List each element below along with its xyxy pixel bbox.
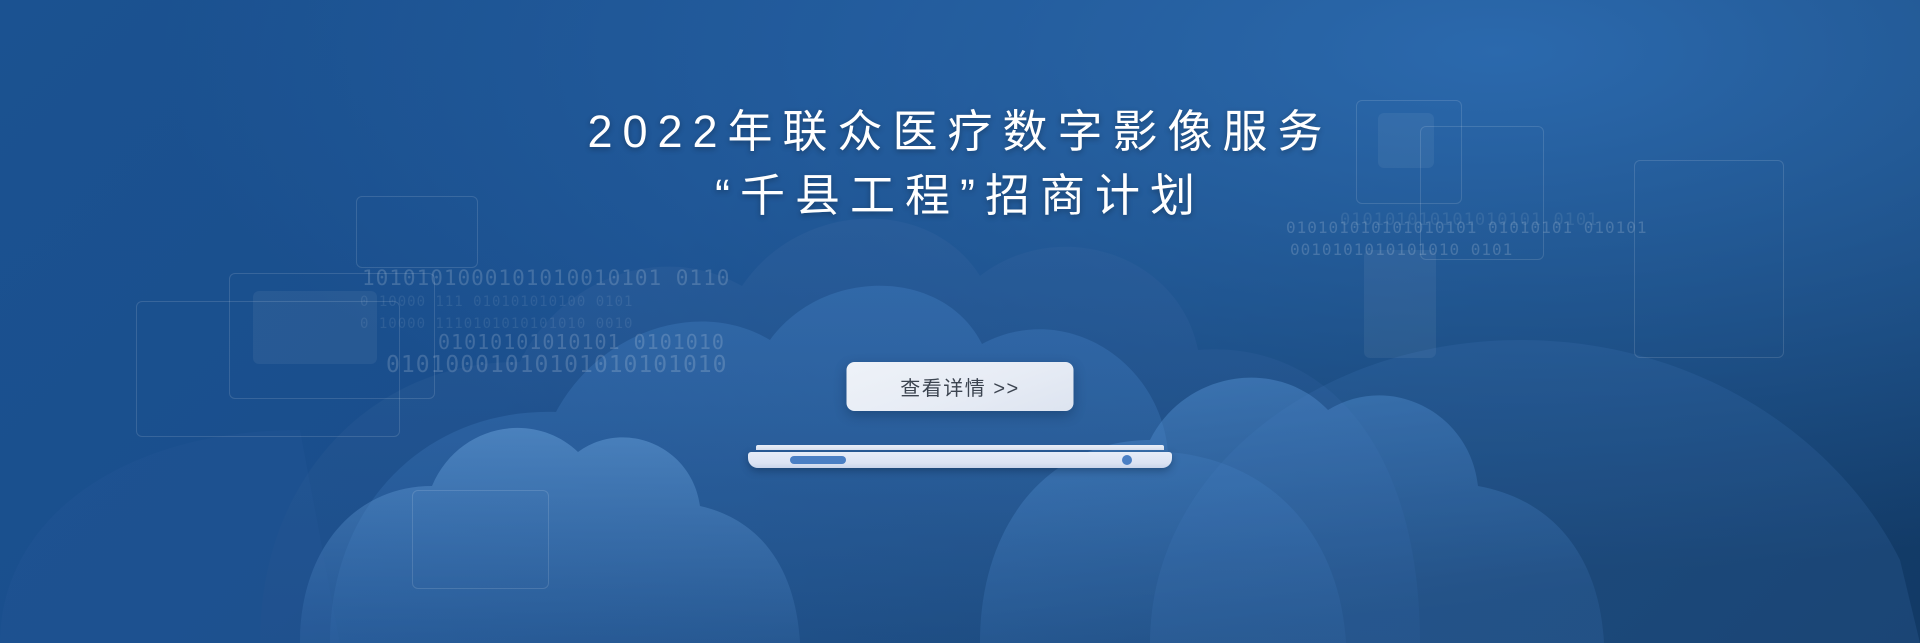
laptop-base-illustration	[748, 445, 1172, 471]
headline-line-1: 2022年联众医疗数字影像服务	[0, 100, 1920, 164]
laptop-indicator-dot-icon	[1122, 455, 1132, 465]
view-details-label: 查看详情 >>	[900, 372, 1019, 401]
decor-rect-right-fill-2	[1364, 250, 1436, 358]
view-details-button[interactable]: 查看详情 >>	[847, 362, 1074, 411]
promo-banner: 1010101000101010010101 0110 0 10000 111 …	[0, 0, 1920, 643]
laptop-lid-edge	[756, 445, 1164, 450]
decor-rect-left-3	[412, 490, 549, 589]
laptop-speaker-pill-icon	[790, 456, 846, 464]
banner-headline: 2022年联众医疗数字影像服务 “千县工程”招商计划	[0, 100, 1920, 228]
decor-rect-left-fill	[253, 291, 377, 364]
headline-line-2: “千县工程”招商计划	[0, 164, 1920, 228]
